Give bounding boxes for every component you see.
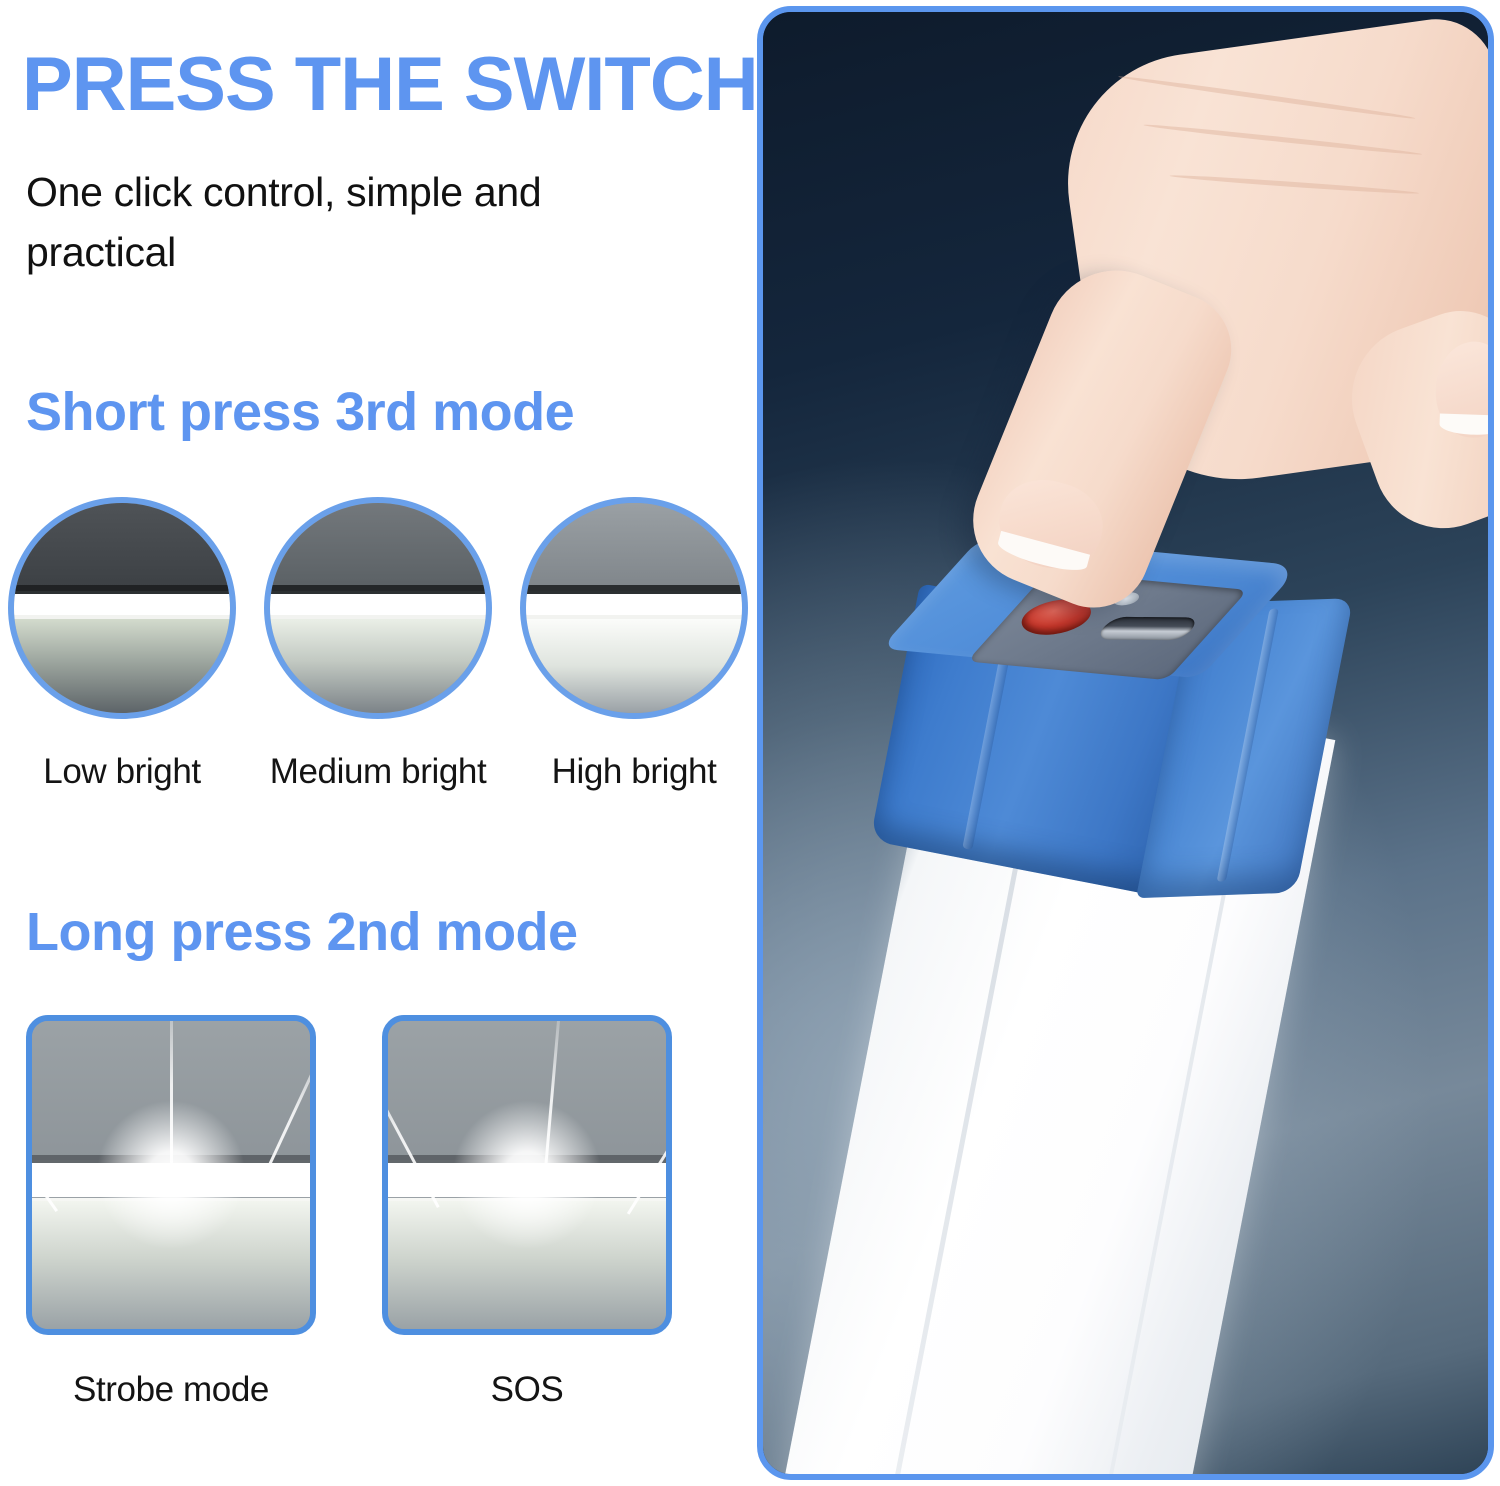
skin-crease: [1143, 123, 1422, 157]
fingernail: [989, 469, 1112, 579]
section-heading-short-press: Short press 3rd mode: [26, 385, 574, 439]
skin-crease: [1169, 173, 1419, 195]
lamp-glow-band: [520, 594, 748, 615]
mode-item-low-bright: [8, 497, 236, 719]
info-column: PRESS THE SWITCH One click control, simp…: [0, 0, 760, 1486]
thumbnail: [1434, 340, 1494, 439]
lamp-edge-line: [8, 585, 236, 594]
long-press-mode-row: [26, 1015, 686, 1335]
brightness-circle-medium-icon: [264, 497, 492, 719]
lamp-lower-gradient: [388, 1201, 666, 1329]
lamp-dark-top: [32, 1021, 310, 1160]
hand-illustration: [1009, 6, 1494, 720]
product-infographic-page: PRESS THE SWITCH One click control, simp…: [0, 0, 1500, 1486]
page-title: PRESS THE SWITCH: [22, 47, 758, 123]
page-subtitle: One click control, simple and practical: [26, 163, 686, 283]
mode-label-medium-bright: Medium bright: [264, 752, 492, 792]
mode-label-low-bright: Low bright: [8, 752, 236, 792]
lamp-edge-line: [32, 1155, 310, 1163]
mode-label-strobe: Strobe mode: [26, 1370, 316, 1410]
hand-pressing-switch-photo: [757, 6, 1494, 1480]
lamp-dark-top: [388, 1021, 666, 1160]
short-press-label-row: Low bright Medium bright High bright: [8, 752, 752, 792]
lamp-dark-top: [8, 503, 236, 591]
long-press-label-row: Strobe mode SOS: [26, 1370, 686, 1410]
page-title-part-outlined: CH: [650, 42, 758, 127]
lamp-edge-line: [388, 1155, 666, 1163]
lamp-glow-band: [264, 594, 492, 615]
section-heading-long-press: Long press 2nd mode: [26, 905, 578, 959]
lamp-lower-gradient: [32, 1201, 310, 1329]
page-title-part-light: PRESS THE SWIT: [22, 42, 650, 127]
lamp-lower-gradient: [8, 619, 236, 714]
brightness-circle-high-icon: [520, 497, 748, 719]
mode-item-high-bright: [520, 497, 748, 719]
skin-crease: [1118, 74, 1416, 121]
lamp-glow-band: [8, 594, 236, 615]
lamp-dark-top: [520, 503, 748, 591]
lamp-lower-gradient: [520, 619, 748, 714]
mode-item-medium-bright: [264, 497, 492, 719]
sos-flare-icon: [382, 1015, 672, 1335]
short-press-mode-row: [8, 497, 748, 719]
lamp-edge-line: [520, 585, 748, 594]
strobe-flare-icon: [26, 1015, 316, 1335]
lamp-edge-line: [264, 585, 492, 594]
lamp-dark-top: [264, 503, 492, 591]
lamp-glow-band: [388, 1163, 666, 1197]
lamp-glow-band: [32, 1163, 310, 1197]
lamp-lower-gradient: [264, 619, 492, 714]
mode-label-sos: SOS: [382, 1370, 672, 1410]
mode-label-high-bright: High bright: [520, 752, 748, 792]
brightness-circle-low-icon: [8, 497, 236, 719]
